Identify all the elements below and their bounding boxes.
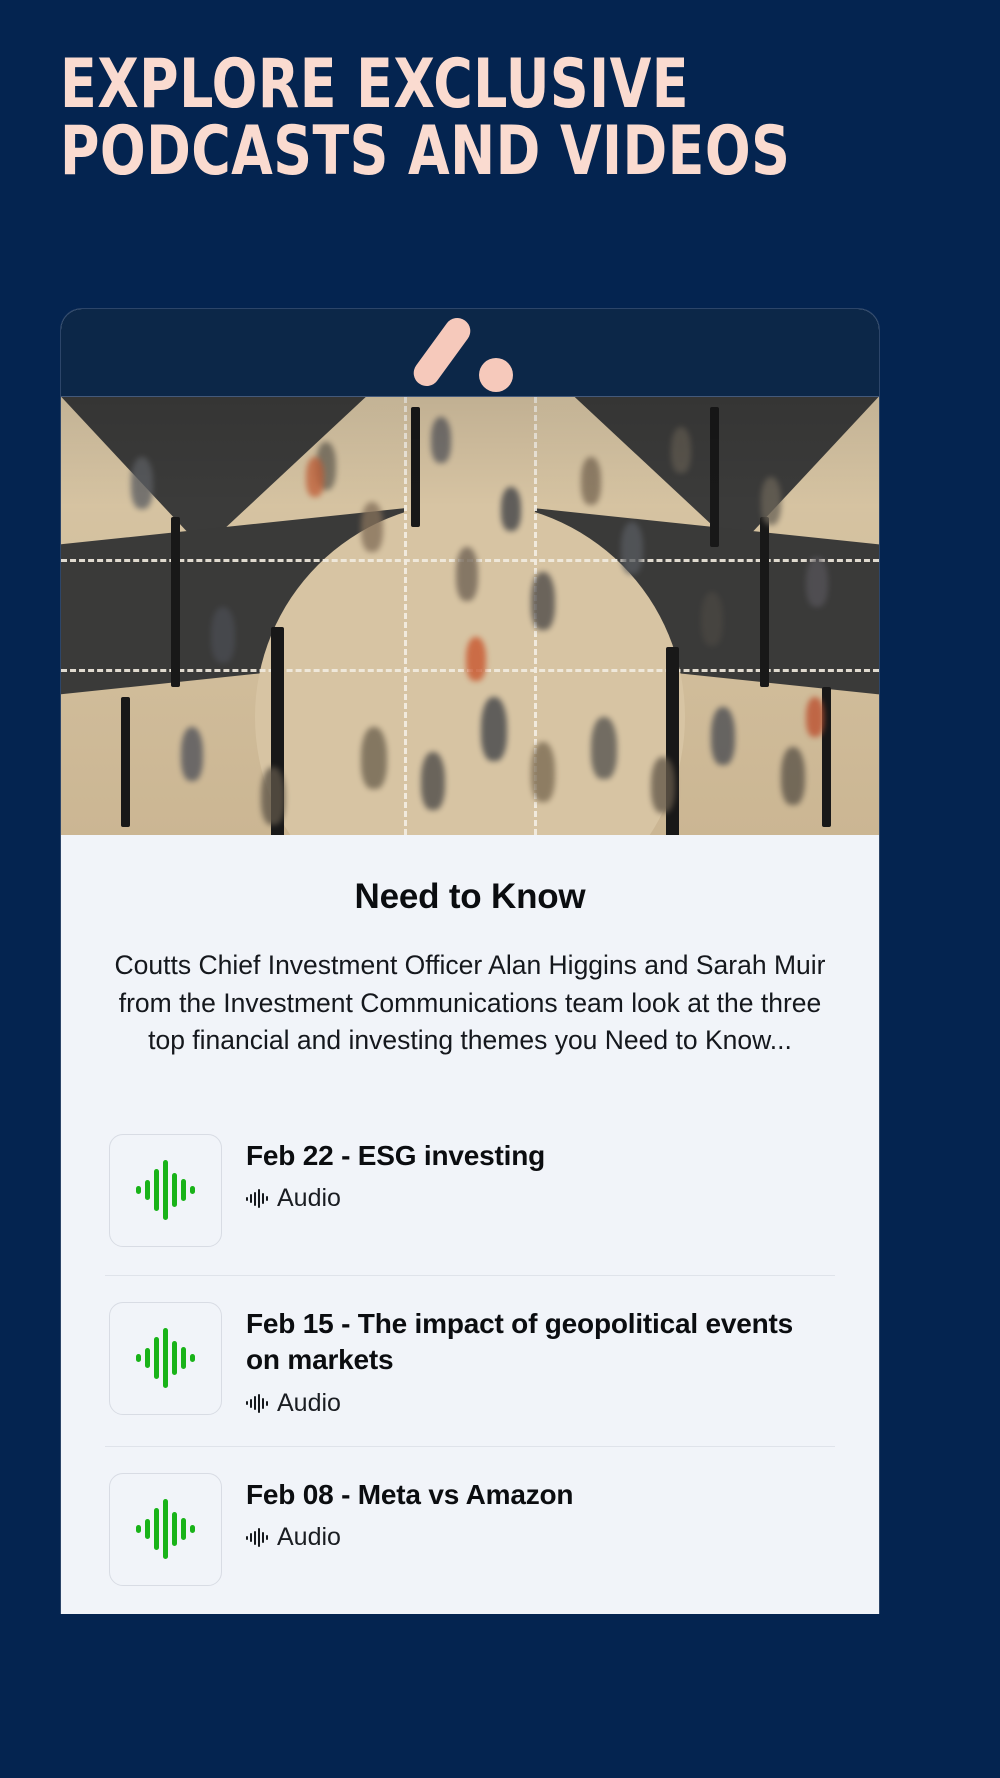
episode-item[interactable]: Feb 08 - Meta vs Amazon Audio xyxy=(105,1446,835,1614)
hero-section: EXPLORE EXCLUSIVE PODCASTS AND VIDEOS xyxy=(0,0,1000,185)
episode-text: Feb 15 - The impact of geopolitical even… xyxy=(246,1302,831,1418)
pedestrian-blur xyxy=(421,752,445,810)
pedestrian-blur xyxy=(591,717,617,779)
coutts-logo xyxy=(425,316,515,390)
pedestrian-blur-red xyxy=(466,637,486,681)
crossing-dash-left xyxy=(404,397,407,835)
pedestrian-blur xyxy=(261,767,285,825)
pedestrian-blur xyxy=(701,592,723,646)
episode-media-type: Audio xyxy=(277,1184,341,1213)
pedestrian-blur xyxy=(181,727,203,781)
page-title: EXPLORE EXCLUSIVE PODCASTS AND VIDEOS xyxy=(60,52,834,185)
pedestrian-blur-red xyxy=(806,697,824,737)
lamp-post xyxy=(171,517,180,687)
logo-circle-shape xyxy=(479,358,513,392)
pedestrian-blur xyxy=(761,477,781,525)
podcast-card: Need to Know Coutts Chief Investment Off… xyxy=(60,308,880,1614)
pedestrian-blur xyxy=(711,707,735,765)
pedestrian-blur xyxy=(431,417,451,463)
pedestrian-blur xyxy=(456,547,478,601)
episode-title: Feb 15 - The impact of geopolitical even… xyxy=(246,1306,831,1379)
pedestrian-blur xyxy=(671,427,691,473)
lamp-post xyxy=(760,517,769,687)
pedestrian-blur xyxy=(781,747,805,805)
pedestrian-blur xyxy=(531,742,555,802)
show-cover-image xyxy=(61,397,879,835)
episode-title: Feb 08 - Meta vs Amazon xyxy=(246,1477,831,1513)
show-description: Coutts Chief Investment Officer Alan Hig… xyxy=(105,947,835,1060)
pedestrian-blur xyxy=(131,457,153,509)
episode-list: Feb 22 - ESG investing Audio xyxy=(105,1108,835,1614)
audio-waveform-icon xyxy=(109,1302,222,1415)
audio-waveform-small-icon xyxy=(246,1189,268,1209)
audio-waveform-icon xyxy=(109,1134,222,1247)
episode-meta: Audio xyxy=(246,1184,831,1213)
page-root: EXPLORE EXCLUSIVE PODCASTS AND VIDEOS xyxy=(0,0,1000,1778)
audio-waveform-small-icon xyxy=(246,1528,268,1548)
pedestrian-blur xyxy=(211,607,235,663)
episode-text: Feb 08 - Meta vs Amazon Audio xyxy=(246,1473,831,1552)
lamp-post xyxy=(121,697,130,827)
pedestrian-blur xyxy=(581,457,601,505)
episode-item[interactable]: Feb 22 - ESG investing Audio xyxy=(105,1108,835,1275)
pedestrian-blur xyxy=(501,487,521,531)
pedestrian-blur xyxy=(481,697,507,761)
pedestrian-blur xyxy=(651,757,675,813)
logo-bar-shape xyxy=(409,312,476,390)
episode-item[interactable]: Feb 15 - The impact of geopolitical even… xyxy=(105,1275,835,1446)
episode-title: Feb 22 - ESG investing xyxy=(246,1138,831,1174)
card-header xyxy=(61,309,879,397)
lamp-post xyxy=(411,407,420,527)
lamp-post xyxy=(710,407,719,547)
show-title: Need to Know xyxy=(105,877,835,917)
pedestrian-blur xyxy=(361,727,387,789)
episode-media-type: Audio xyxy=(277,1523,341,1552)
episode-meta: Audio xyxy=(246,1389,831,1418)
audio-waveform-icon xyxy=(109,1473,222,1586)
episode-meta: Audio xyxy=(246,1523,831,1552)
pedestrian-blur xyxy=(361,502,383,552)
pedestrian-blur-red xyxy=(306,457,324,497)
audio-waveform-small-icon xyxy=(246,1393,268,1413)
pedestrian-blur xyxy=(531,572,555,630)
pedestrian-blur xyxy=(806,557,828,607)
episode-media-type: Audio xyxy=(277,1389,341,1418)
pedestrian-blur xyxy=(621,522,643,574)
episode-text: Feb 22 - ESG investing Audio xyxy=(246,1134,831,1213)
card-body: Need to Know Coutts Chief Investment Off… xyxy=(61,835,879,1614)
